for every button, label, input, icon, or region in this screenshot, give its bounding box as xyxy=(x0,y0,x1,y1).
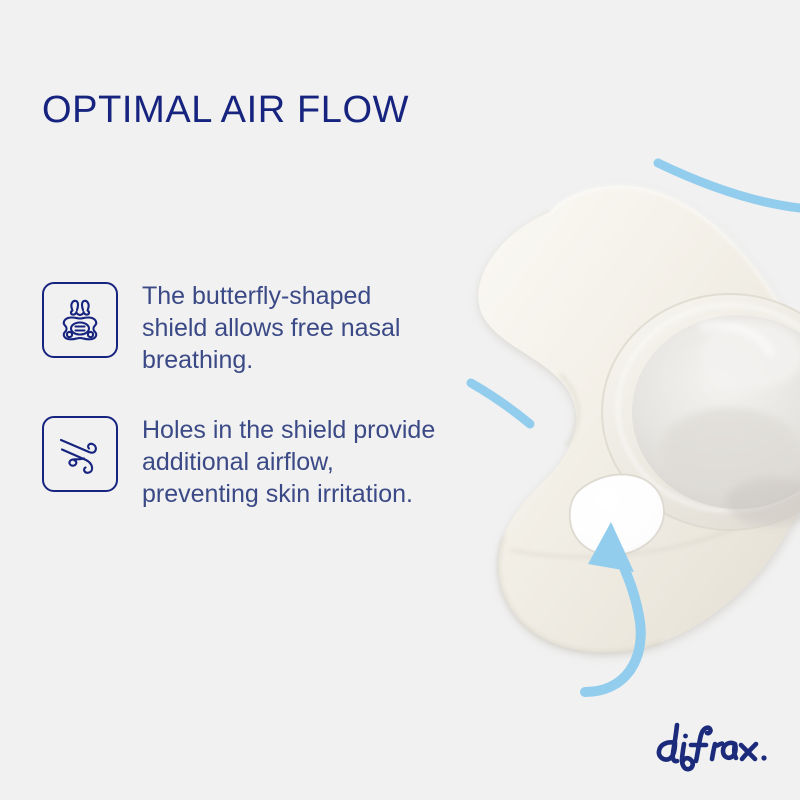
shield-bottom-edge xyxy=(499,536,662,652)
pacifier-nipple xyxy=(632,315,800,526)
airflow-wind-icon xyxy=(53,427,107,481)
feature-text: Holes in the shield provide additional a… xyxy=(142,414,442,510)
feature-item-airflow-holes: Holes in the shield provide additional a… xyxy=(42,414,462,510)
feature-item-nasal-breathing: The butterfly-shaped shield allows free … xyxy=(42,280,462,376)
pacifier-ring xyxy=(602,294,800,530)
page-title: OPTIMAL AIR FLOW xyxy=(42,91,409,129)
airflow-wind-icon-box xyxy=(42,416,118,492)
brand-logo xyxy=(655,718,770,776)
shield-air-hole xyxy=(570,474,664,555)
shield-seam-line xyxy=(510,522,750,557)
hole-pointer-arrow-shaft xyxy=(585,556,641,692)
feature-list: The butterfly-shaped shield allows free … xyxy=(42,280,462,548)
feature-text: The butterfly-shaped shield allows free … xyxy=(142,280,442,376)
pacifier-nose-icon-box xyxy=(42,282,118,358)
shield-waist-crease xyxy=(560,374,578,446)
middle-airflow-dash xyxy=(471,383,530,424)
poster-canvas: OPTIMAL AIR FLOW xyxy=(0,0,800,800)
pacifier-nose-icon xyxy=(53,293,107,347)
top-right-airflow-curve xyxy=(658,163,800,208)
hole-pointer-arrow-head xyxy=(588,522,634,572)
pacifier-shield xyxy=(478,186,800,653)
registered-mark xyxy=(761,755,766,760)
shield-top-highlight xyxy=(550,186,792,325)
